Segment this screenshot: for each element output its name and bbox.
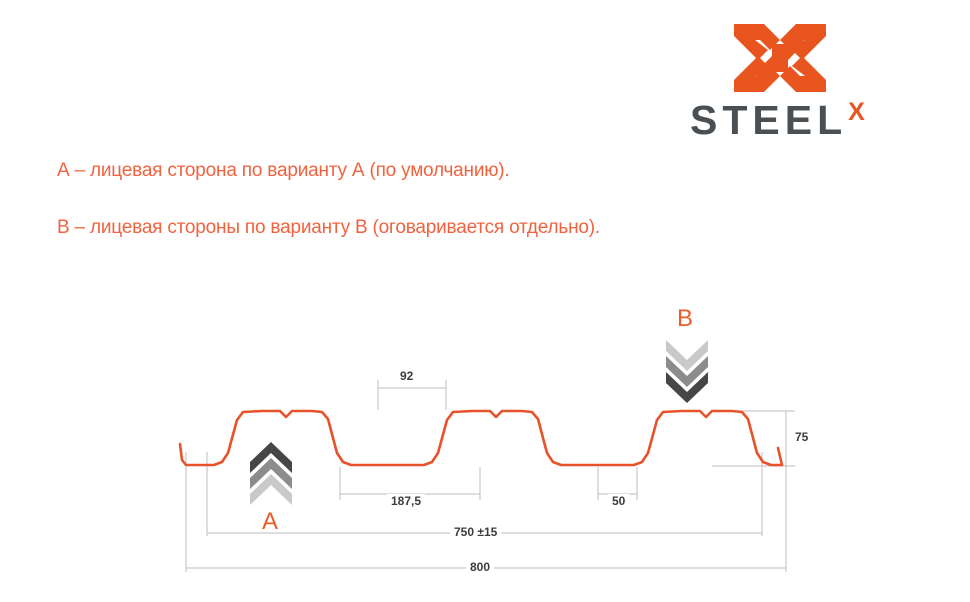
dimension-label-valley-width: 50 bbox=[608, 494, 629, 508]
marker-b-chevrons-icon bbox=[666, 340, 708, 403]
dimension-label-effective-width: 750 ±15 bbox=[450, 525, 501, 539]
dimension-extension-lines bbox=[186, 380, 795, 572]
dimension-label-rib-pitch: 187,5 bbox=[387, 494, 425, 508]
marker-a-chevrons-icon bbox=[250, 442, 292, 505]
marker-b-label: В bbox=[677, 305, 693, 333]
dimension-label-profile-height: 75 bbox=[791, 430, 812, 444]
profile-outline-path bbox=[180, 411, 782, 465]
dimension-label-overall-width: 800 bbox=[466, 560, 494, 574]
profile-technical-drawing bbox=[0, 0, 970, 597]
dimension-label-rib-top-width: 92 bbox=[396, 369, 417, 383]
marker-a-label: А bbox=[262, 508, 278, 536]
